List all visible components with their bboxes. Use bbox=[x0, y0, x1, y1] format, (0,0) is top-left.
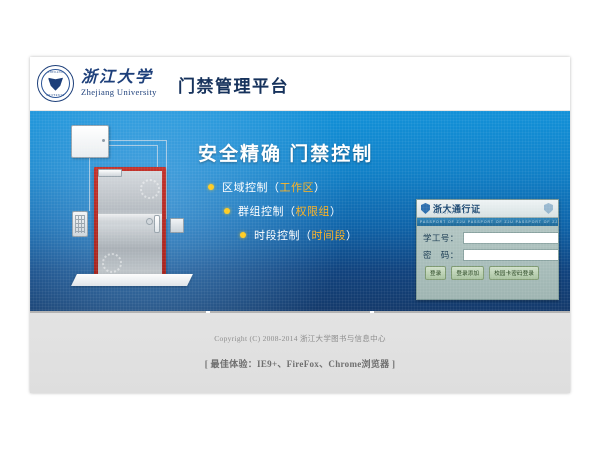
browser-compatibility-text: [ 最佳体验：IE9+、FireFox、Chrome浏览器 ] bbox=[30, 357, 570, 370]
shield-watermark-icon bbox=[544, 203, 553, 214]
bullet-dot-icon bbox=[224, 208, 230, 214]
seal-emblem-icon bbox=[48, 78, 63, 91]
site-footer: Copyright (C) 2008-2014 浙江大学图书与信息中心 [ 最佳… bbox=[30, 311, 570, 393]
wire-icon bbox=[104, 140, 166, 141]
feature-label: 群组控制（权限组） bbox=[238, 203, 342, 219]
door-panel bbox=[98, 171, 162, 279]
footer-notch bbox=[370, 311, 374, 313]
bullet-dot-icon bbox=[208, 184, 214, 190]
door-handle-icon bbox=[154, 215, 160, 233]
userid-label: 学工号： bbox=[423, 232, 459, 244]
wire-icon bbox=[104, 145, 157, 146]
login-add-button[interactable]: 登录添加 bbox=[451, 266, 484, 280]
wordmark-en: Zhejiang University bbox=[81, 87, 157, 98]
controller-box-icon bbox=[71, 125, 109, 158]
wire-icon bbox=[166, 140, 167, 219]
card-reader-icon bbox=[170, 218, 184, 233]
wire-icon bbox=[89, 155, 90, 211]
feature-list: 区域控制（工作区） 群组控制（权限组） 时段控制（时间段） bbox=[208, 179, 358, 251]
seal-text-bottom: UNIVERSITY bbox=[38, 94, 73, 97]
zju-seal-icon: ZHEJIANG UNIVERSITY bbox=[37, 65, 74, 102]
keypad-keys-icon bbox=[75, 215, 85, 233]
feature-item-area-control: 区域控制（工作区） bbox=[208, 179, 358, 195]
password-input[interactable] bbox=[463, 249, 559, 261]
login-button[interactable]: 登录 bbox=[425, 266, 446, 280]
shield-icon bbox=[421, 203, 430, 214]
gear-icon bbox=[140, 179, 160, 199]
login-button-row: 登录 登录添加 校园卡密码登录 bbox=[423, 266, 552, 280]
feature-item-group-control: 群组控制（权限组） bbox=[224, 203, 358, 219]
brand-block[interactable]: ZHEJIANG UNIVERSITY 浙江大学 Zhejiang Univer… bbox=[37, 65, 157, 102]
login-panel: 浙大通行证 PASSPORT OF ZJU PASSPORT OF ZJU PA… bbox=[416, 199, 559, 300]
keypad-reader-icon bbox=[72, 211, 88, 237]
page-title: 门禁管理平台 bbox=[178, 72, 289, 97]
wordmark: 浙江大学 Zhejiang University bbox=[81, 69, 157, 98]
door-knob-icon bbox=[146, 218, 153, 225]
app-page: ZHEJIANG UNIVERSITY 浙江大学 Zhejiang Univer… bbox=[30, 57, 570, 393]
passport-microtext-band: PASSPORT OF ZJU PASSPORT OF ZJU PASSPORT… bbox=[417, 218, 558, 226]
hero-banner: 安全精确 门禁控制 区域控制（工作区） 群组控制（权限组） 时段控制（时间段） … bbox=[30, 111, 570, 311]
footer-notch bbox=[206, 311, 210, 313]
door-access-control-illustration bbox=[48, 119, 208, 305]
feature-item-time-control: 时段控制（时间段） bbox=[240, 227, 358, 243]
login-panel-header: 浙大通行证 PASSPORT OF ZJU bbox=[417, 200, 558, 218]
door-closer-icon bbox=[98, 169, 122, 177]
copyright-text: Copyright (C) 2008-2014 浙江大学图书与信息中心 bbox=[30, 333, 570, 344]
wordmark-cn: 浙江大学 bbox=[81, 69, 157, 87]
gear-icon bbox=[102, 253, 122, 273]
banner-slogan: 安全精确 门禁控制 bbox=[198, 139, 373, 166]
password-label: 密 码： bbox=[423, 249, 459, 261]
feature-label: 区域控制（工作区） bbox=[222, 179, 326, 195]
bullet-dot-icon bbox=[240, 232, 246, 238]
feature-label: 时段控制（时间段） bbox=[254, 227, 358, 243]
field-row-userid: 学工号： bbox=[423, 232, 552, 244]
field-row-password: 密 码： bbox=[423, 249, 552, 261]
campus-card-login-button[interactable]: 校园卡密码登录 bbox=[489, 266, 539, 280]
site-header: ZHEJIANG UNIVERSITY 浙江大学 Zhejiang Univer… bbox=[30, 57, 570, 111]
login-form: 学工号： 密 码： 登录 登录添加 校园卡密码登录 bbox=[417, 226, 558, 280]
login-panel-subtitle: PASSPORT OF ZJU bbox=[434, 211, 481, 215]
seal-text-top: ZHEJIANG bbox=[38, 71, 73, 74]
userid-input[interactable] bbox=[463, 232, 559, 244]
floor-plate bbox=[71, 274, 193, 286]
